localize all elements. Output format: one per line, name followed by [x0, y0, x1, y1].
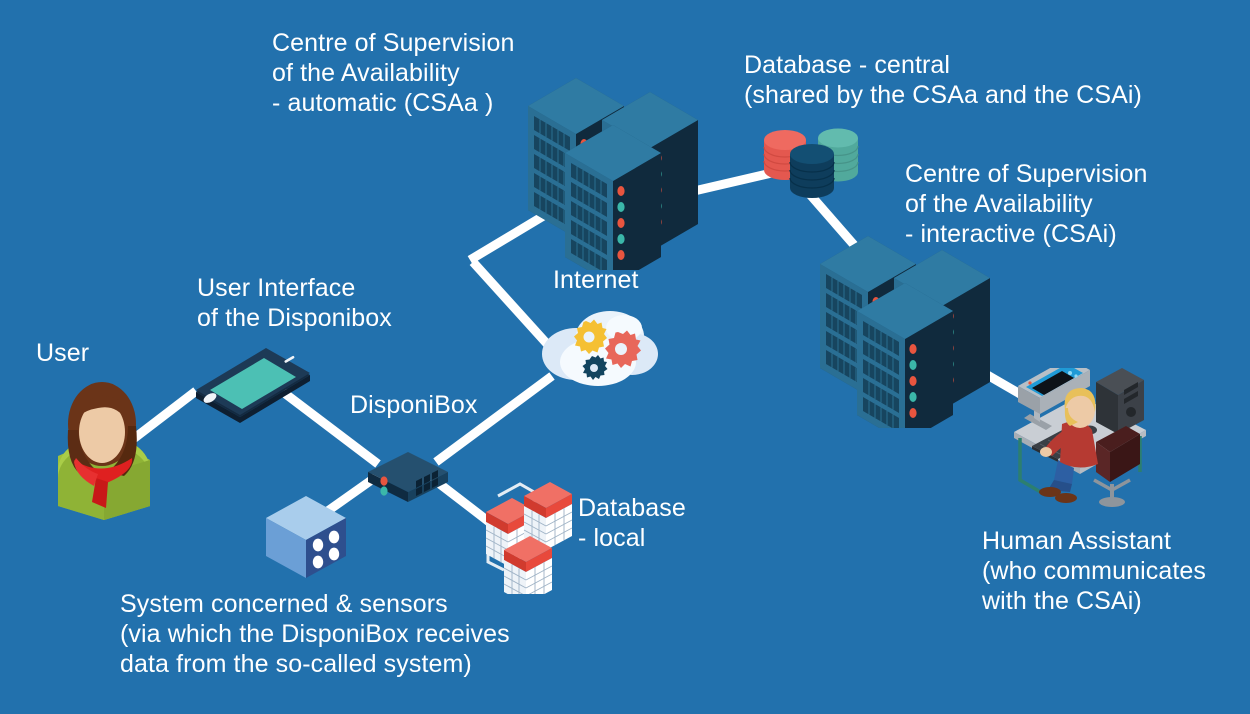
smartphone[interactable] [188, 344, 318, 426]
label-disponibox: DisponiBox [350, 390, 477, 420]
sensor-cube [260, 494, 356, 580]
user-avatar [46, 378, 166, 520]
pc-tower [1096, 368, 1144, 434]
label-database-central: Database - central (shared by the CSAa a… [744, 50, 1142, 110]
label-system-sensors: System concerned & sensors (via which th… [120, 589, 510, 679]
server-rack-front [565, 125, 661, 270]
db-cylinder-navy [790, 144, 834, 198]
diagram-canvas: Centre of Supervision of the Availabilit… [0, 0, 1250, 714]
label-database-local: Database - local [578, 493, 686, 553]
server-rack-group-csaa [528, 70, 698, 270]
label-csaa: Centre of Supervision of the Availabilit… [272, 28, 515, 118]
server-rack-front [857, 283, 953, 428]
label-user-interface: User Interface of the Disponibox [197, 273, 392, 333]
database-tables-local [478, 482, 584, 594]
human-assistant-at-computer [1000, 368, 1160, 510]
server-rack-group-csai [820, 228, 990, 428]
network-switch[interactable] [362, 450, 454, 506]
label-human-assistant: Human Assistant (who communicates with t… [982, 526, 1206, 616]
database-cylinders-central [758, 122, 866, 204]
internet-cloud [536, 292, 662, 402]
label-user: User [36, 338, 89, 368]
